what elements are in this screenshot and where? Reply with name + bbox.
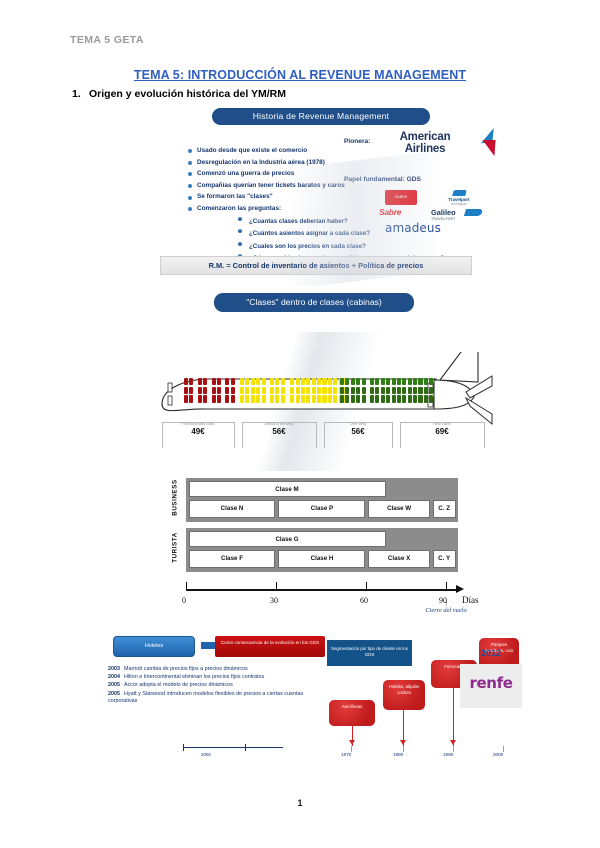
step-box-hoteles-coches: Hoteles, alquiler coches	[383, 680, 425, 710]
milestone-year: 2003	[108, 666, 120, 672]
slide2-banner: "Clases" dentro de clases (cabinas)	[214, 293, 414, 312]
gds-consequence-banner: Como consecuencia de la evolución en los…	[215, 636, 325, 657]
aa-line2: Airlines	[379, 143, 471, 155]
aa-line1: American	[379, 131, 471, 143]
galileo-swoosh-icon	[464, 209, 483, 216]
list-item: 2004Hilton e Intercontinental eliminan l…	[108, 674, 313, 681]
turista-top-row: Clase G	[189, 531, 456, 547]
cabin-label-front: Front/business class 49€	[159, 422, 237, 437]
list-item: Comenzaron las preguntas:	[187, 205, 402, 213]
section-heading: 1.Origen y evolución histórica del YM/RM	[72, 88, 286, 100]
list-item: Desregulación en la Industria aérea (197…	[187, 159, 402, 167]
cell-clase-n: Clase N	[189, 500, 276, 518]
axis-tick-0: 0	[182, 596, 186, 605]
cabin-price: 69€	[403, 427, 481, 437]
renfe-logo: renfe	[460, 674, 522, 692]
step-box-aerolineas: Aerolíneas	[329, 700, 375, 726]
galileo-text: Galileo	[431, 208, 456, 217]
cell-clase-h: Clase H	[278, 550, 365, 568]
slide-evolucion-hoteles: Hoteles Como consecuencia de la evolució…	[105, 628, 525, 773]
row-label-turista: TURISTA	[172, 525, 179, 571]
galileo-logo: Galileo TRAVELPORT	[431, 208, 456, 221]
cabin-price: 56€	[319, 427, 397, 437]
cabin-label-over-wing: Over wing 56€	[319, 422, 397, 437]
timeline-year-1990: 1990	[443, 752, 453, 757]
table-row: Clase M Clase N Clase P Clase W C. Z	[186, 478, 458, 522]
timeline-year-1980: 1980	[393, 752, 403, 757]
milestone-text: Hilton e Intercontinental eliminan los p…	[124, 674, 264, 680]
pioneer-label: Pionera:	[344, 138, 370, 145]
milestone-year: 2005	[108, 682, 120, 688]
cell-clase-g: Clase G	[189, 531, 386, 547]
mini-axis-label: 2005	[201, 752, 211, 757]
cell-clase-f: Clase F	[189, 550, 276, 568]
renfe-block: 2012 renfe	[460, 660, 522, 718]
milestone-text: Hyatt y Starwood introducen modelos flex…	[108, 691, 303, 704]
decade-timeline: 1970 1980 1990 2000	[327, 746, 522, 766]
cabin-price: 56€	[240, 427, 318, 437]
page-title: TEMA 5: INTRODUCCIÓN AL REVENUE MANAGEME…	[0, 68, 600, 82]
axis-unit-label: Días	[462, 595, 479, 605]
cell-clase-m: Clase M	[189, 481, 386, 497]
slide1-banner: Historia de Revenue Management	[212, 108, 430, 125]
flight-close-note: Cierre del vuelo	[416, 607, 476, 615]
days-axis: 0 30 60 90 Días ↑ Cierre del vuelo	[168, 585, 478, 625]
section-number: 1.	[72, 88, 89, 100]
milestone-year: 2005	[108, 691, 120, 697]
cabin-price-labels: Front/business class 49€ Ahead of the wi…	[158, 422, 488, 454]
sabre-mark-icon: SABRE	[385, 190, 417, 205]
slide1-bullet-list: Usado desde que existe el comercio Desre…	[147, 147, 402, 268]
document-page: TEMA 5 GETA TEMA 5: INTRODUCCIÓN AL REVE…	[0, 0, 600, 848]
gds-logo-group: SABRE Sabre Travelport Worldspan Galileo…	[373, 190, 495, 238]
cell-clase-p: Clase P	[278, 500, 365, 518]
business-top-row: Clase M	[189, 481, 456, 497]
list-item: ¿Cuales son los precios en cada clase?	[227, 243, 402, 251]
renfe-year: 2012	[460, 648, 522, 658]
cabin-price: 49€	[159, 427, 237, 437]
cell-clase-w: Clase W	[368, 500, 429, 518]
cabin-label-ahead-wing: Ahead of the wing 56€	[240, 422, 318, 437]
axis-tick-60: 60	[360, 596, 368, 605]
axis-arrow-icon	[456, 585, 464, 593]
milestone-year: 2004	[108, 674, 120, 680]
rm-formula-box: R.M. = Control de inventario de asientos…	[160, 256, 472, 275]
turista-bottom-row: Clase F Clase H Clase X C. Y	[189, 550, 456, 568]
aa-tail-red-icon	[481, 140, 495, 156]
travelport-mark-icon	[452, 190, 467, 196]
travelport-logo: Travelport Worldspan	[437, 190, 481, 206]
list-item: 2003Marriott cambia de precios fijos a p…	[108, 666, 313, 673]
hoteles-button: Hoteles	[113, 636, 195, 657]
segmentation-box: Segmentación por tipo de cliente en los …	[327, 640, 412, 666]
list-item: Usado desde que existe el comercio	[187, 147, 402, 155]
cell-clase-z: C. Z	[433, 500, 456, 518]
milestone-list: 2003Marriott cambia de precios fijos a p…	[108, 666, 313, 706]
booking-class-table: BUSINESS Clase M Clase N Clase P Clase W…	[168, 478, 478, 573]
page-number: 1	[0, 798, 600, 808]
amadeus-logo: amadeus	[385, 221, 441, 235]
aircraft-seatmap-diagram: Front/business class 49€ Ahead of the wi…	[140, 326, 500, 471]
cell-clase-x: Clase X	[368, 550, 429, 568]
milestone-text: Marriott cambia de precios fijos a preci…	[124, 666, 248, 672]
business-bottom-row: Clase N Clase P Clase W C. Z	[189, 500, 456, 518]
timeline-year-2000: 2000	[493, 752, 503, 757]
american-airlines-logo-text: American Airlines	[379, 131, 471, 155]
axis-tick-30: 30	[270, 596, 278, 605]
slide-historia-revenue-management: Historia de Revenue Management Usado des…	[140, 104, 500, 286]
travelport-line2: Worldspan	[437, 202, 481, 206]
timeline-year-1970: 1970	[341, 752, 351, 757]
running-head: TEMA 5 GETA	[70, 34, 144, 46]
list-item: Se formaron las "clases"	[187, 193, 402, 201]
seat-block-business	[184, 378, 235, 403]
gds-label: Papel fundamental: GDS	[344, 176, 421, 183]
american-airlines-logo: American Airlines	[379, 130, 497, 162]
mini-timeline-axis: 2005	[183, 744, 283, 760]
axis-line	[186, 589, 458, 591]
cabin-label-rear: Rear cabin 69€	[403, 422, 481, 437]
cell-clase-y: C. Y	[433, 550, 456, 568]
table-row: Clase G Clase F Clase H Clase X C. Y	[186, 528, 458, 572]
section-title: Origen y evolución histórica del YM/RM	[89, 88, 286, 100]
milestone-text: Accor adopta el modelo de precios dinámi…	[124, 682, 233, 688]
seat-block-yellow-front	[240, 378, 348, 403]
sabre-logo: Sabre	[379, 207, 401, 217]
list-item: 2005Accor adopta el modelo de precios di…	[108, 682, 313, 689]
list-item: 2005Hyatt y Starwood introducen modelos …	[108, 691, 313, 705]
seat-block-green-rear	[340, 378, 433, 403]
row-label-business: BUSINESS	[172, 475, 179, 521]
